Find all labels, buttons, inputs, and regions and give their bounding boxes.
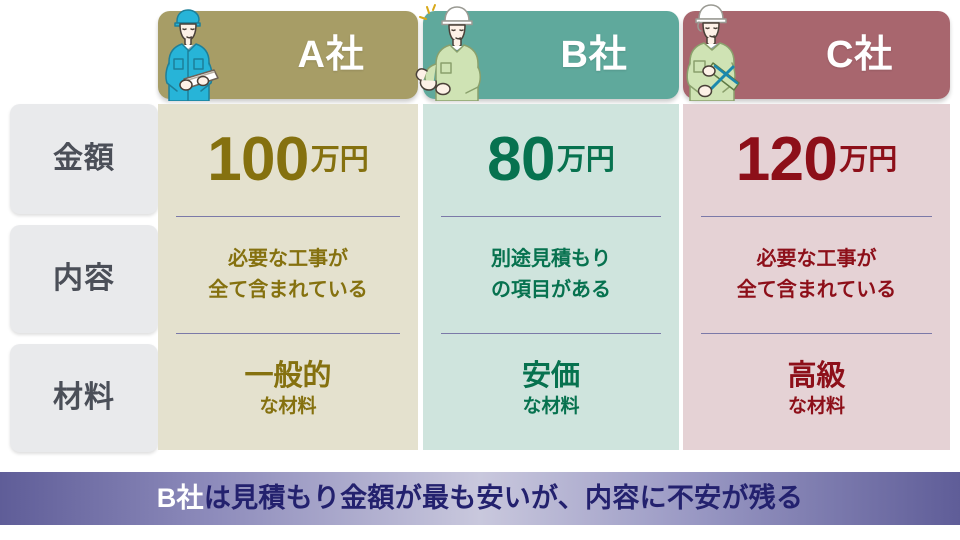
company-c-material-main: 高級 xyxy=(787,360,845,393)
company-c-tab-label: C社 xyxy=(740,36,893,74)
conclusion-banner-highlight: B社 xyxy=(157,483,204,513)
company-c-price-unit: 万円 xyxy=(839,146,897,175)
company-c-price-number: 120 xyxy=(736,129,838,191)
company-a-contents: 必要な工事が 全て含まれている xyxy=(176,217,400,333)
company-b-body: 80 万円 別途見積もり の項目がある 安価 な材料 xyxy=(423,104,679,450)
company-a-body: 100 万円 必要な工事が 全て含まれている 一般的 な材料 xyxy=(158,104,418,450)
company-c-body: 120 万円 必要な工事が 全て含まれている 高級 な材料 xyxy=(683,104,950,450)
company-a-contents-line2: 全て含まれている xyxy=(208,275,367,306)
company-c-contents: 必要な工事が 全て含まれている xyxy=(701,217,932,333)
company-b-price-unit: 万円 xyxy=(557,146,615,175)
company-b-material-main: 安価 xyxy=(522,360,580,393)
conclusion-banner-text: B社は見積もり金額が最も安いが、内容に不安が残る xyxy=(157,485,803,512)
company-c-material-sub: な材料 xyxy=(788,395,845,420)
company-b-tab[interactable]: B社 xyxy=(423,11,679,99)
company-c-contents-line2: 全て含まれている xyxy=(737,275,896,306)
comparison-table: 金額 内容 材料 xyxy=(0,0,960,540)
company-a-tab[interactable]: A社 xyxy=(158,11,418,99)
company-a-material-main: 一般的 xyxy=(244,360,331,393)
company-a-contents-line1: 必要な工事が xyxy=(228,244,348,275)
company-column-c: C社 120 万円 必要な工事が 全て含まれている 高級 な材料 xyxy=(683,0,950,450)
company-b-material: 安価 な材料 xyxy=(441,334,661,446)
company-b-contents-line2: の項目がある xyxy=(491,275,611,306)
company-a-material: 一般的 な材料 xyxy=(176,334,400,446)
company-c-material: 高級 な材料 xyxy=(701,334,932,446)
conclusion-banner-rest: は見積もり金額が最も安いが、内容に不安が残る xyxy=(204,483,803,513)
company-b-material-sub: な材料 xyxy=(522,395,579,420)
row-label-contents-text: 内容 xyxy=(53,264,115,294)
company-column-b: B社 80 万円 別途見積もり の項目がある 安価 な材料 xyxy=(423,0,679,450)
row-label-material-text: 材料 xyxy=(53,383,115,413)
company-a-price-unit: 万円 xyxy=(311,146,369,175)
row-label-amount-text: 金額 xyxy=(53,144,115,174)
company-b-price-number: 80 xyxy=(487,129,555,191)
company-c-contents-line1: 必要な工事が xyxy=(757,244,877,275)
conclusion-banner: B社は見積もり金額が最も安いが、内容に不安が残る xyxy=(0,472,960,525)
row-label-material: 材料 xyxy=(10,344,158,452)
company-b-tab-label: B社 xyxy=(475,36,628,74)
company-a-tab-label: A社 xyxy=(212,36,365,74)
company-c-price: 120 万円 xyxy=(701,104,932,216)
row-label-column: 金額 内容 材料 xyxy=(10,104,158,452)
company-c-tab[interactable]: C社 xyxy=(683,11,950,99)
company-column-a: A社 100 万円 必要な工事が 全て含まれている 一般的 な材料 xyxy=(158,0,418,450)
company-b-price: 80 万円 xyxy=(441,104,661,216)
company-a-price: 100 万円 xyxy=(176,104,400,216)
row-label-amount: 金額 xyxy=(10,104,158,214)
company-b-contents: 別途見積もり の項目がある xyxy=(441,217,661,333)
company-a-material-sub: な材料 xyxy=(259,395,316,420)
company-a-price-number: 100 xyxy=(207,129,309,191)
company-b-contents-line1: 別途見積もり xyxy=(491,244,611,275)
row-label-contents: 内容 xyxy=(10,225,158,333)
